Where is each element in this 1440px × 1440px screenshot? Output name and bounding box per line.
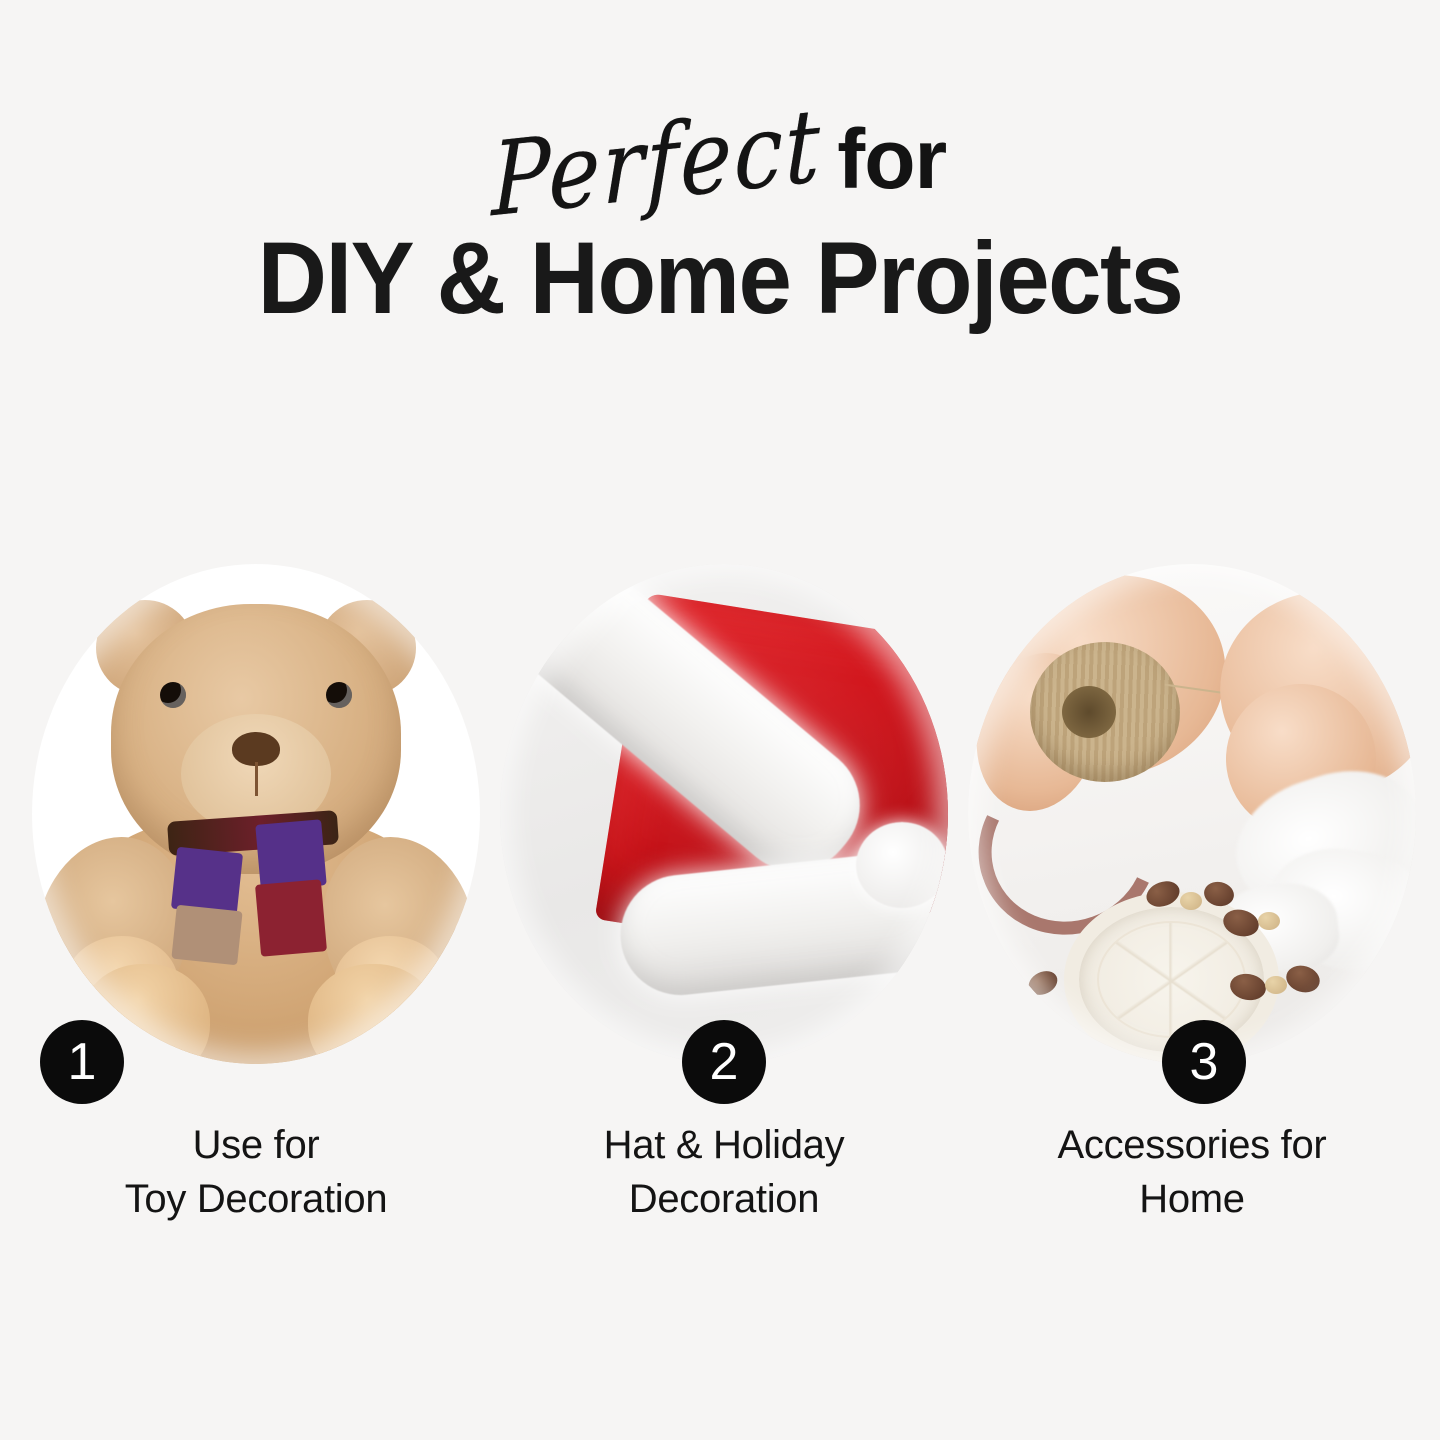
caption-2-line-2: Decoration (500, 1172, 948, 1226)
wooden-bead-6 (1025, 967, 1062, 1000)
wooden-bead-8 (1265, 976, 1287, 994)
caption-3-line-1: Accessories for (968, 1118, 1416, 1172)
headline-script-word: Perfect (491, 100, 821, 229)
photo-santa-hat (500, 564, 948, 1064)
caption-2: Hat & Holiday Decoration (500, 1118, 948, 1226)
step-badge-2: 2 (682, 1020, 766, 1104)
headline-row-top: Perfect for (0, 120, 1440, 202)
photo-teddy-bear (32, 564, 480, 1064)
feature-card-3[interactable]: 3 Accessories for Home (968, 548, 1416, 1268)
headline-main-line: DIY & Home Projects (0, 228, 1440, 330)
caption-3-line-2: Home (968, 1172, 1416, 1226)
scarf-band-tan (171, 905, 242, 966)
infographic-page: Perfect for DIY & Home Projects (0, 0, 1440, 1440)
photo-dream-catcher-craft (968, 564, 1416, 1064)
feature-card-2[interactable]: 2 Hat & Holiday Decoration (500, 548, 948, 1268)
bear-nose (232, 732, 280, 766)
step-badge-1: 1 (40, 1020, 124, 1104)
scarf-band-maroon (255, 879, 327, 956)
wooden-bead-5 (1258, 912, 1280, 930)
bear-foot-right (308, 964, 438, 1064)
caption-3: Accessories for Home (968, 1118, 1416, 1226)
wooden-bead-2 (1180, 892, 1202, 910)
caption-1-line-2: Toy Decoration (32, 1172, 480, 1226)
teddy-bear-illustration (32, 564, 480, 1064)
headline-accent-word: for (837, 120, 946, 200)
caption-1-line-1: Use for (32, 1118, 480, 1172)
headline-block: Perfect for DIY & Home Projects (0, 0, 1440, 360)
step-badge-3: 3 (1162, 1020, 1246, 1104)
feature-cards: 1 Use for Toy Decoration 2 Hat & Holiday… (0, 548, 1440, 1268)
bear-eye-left (160, 682, 186, 708)
santa-hat-pompom (856, 822, 948, 908)
caption-2-line-1: Hat & Holiday (500, 1118, 948, 1172)
caption-1: Use for Toy Decoration (32, 1118, 480, 1226)
feature-card-1[interactable]: 1 Use for Toy Decoration (32, 548, 480, 1268)
jute-twine-spool (1030, 642, 1180, 782)
bear-eye-right (326, 682, 352, 708)
